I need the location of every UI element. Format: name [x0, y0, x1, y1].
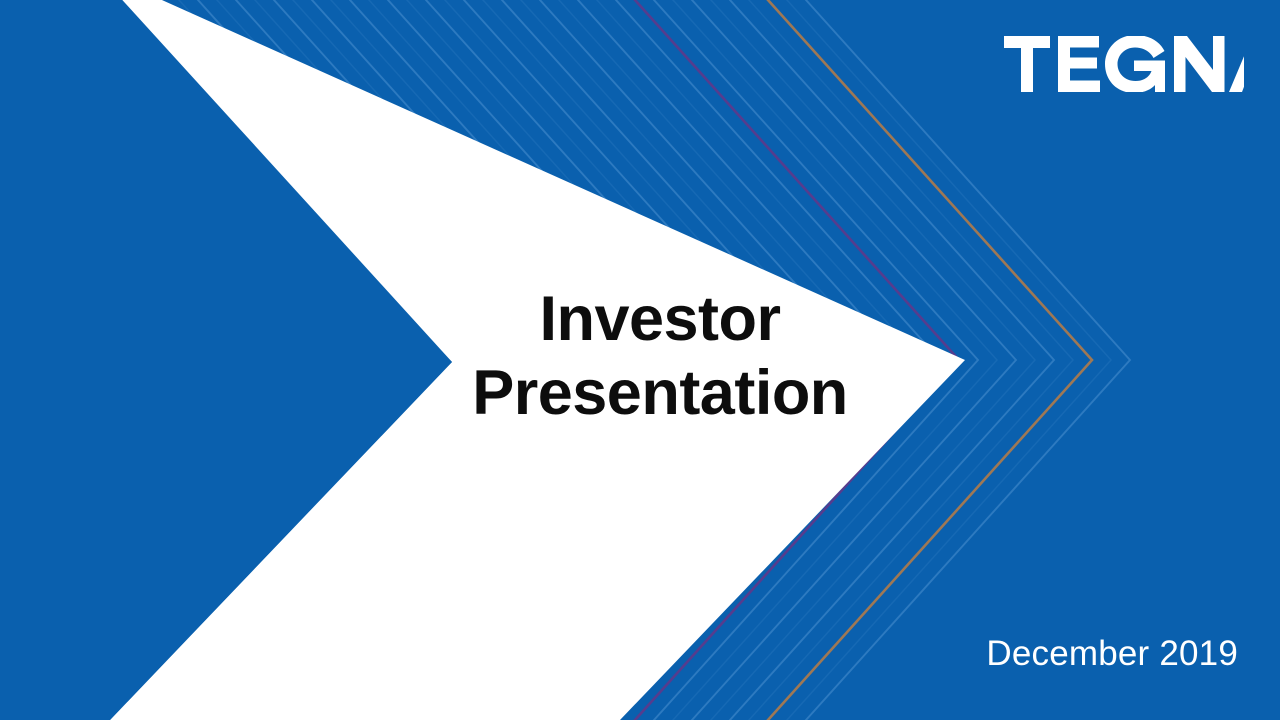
date-label: December 2019: [986, 634, 1238, 673]
tegna-logo-mark: [1004, 36, 1244, 92]
presentation-date: December 2019: [986, 634, 1238, 674]
title-line-2: Presentation: [430, 356, 890, 430]
title-slide: Investor Presentation December 2019: [0, 0, 1280, 720]
page-title: Investor Presentation: [430, 282, 890, 430]
tegna-logo: [1004, 36, 1244, 92]
title-line-1: Investor: [430, 282, 890, 356]
